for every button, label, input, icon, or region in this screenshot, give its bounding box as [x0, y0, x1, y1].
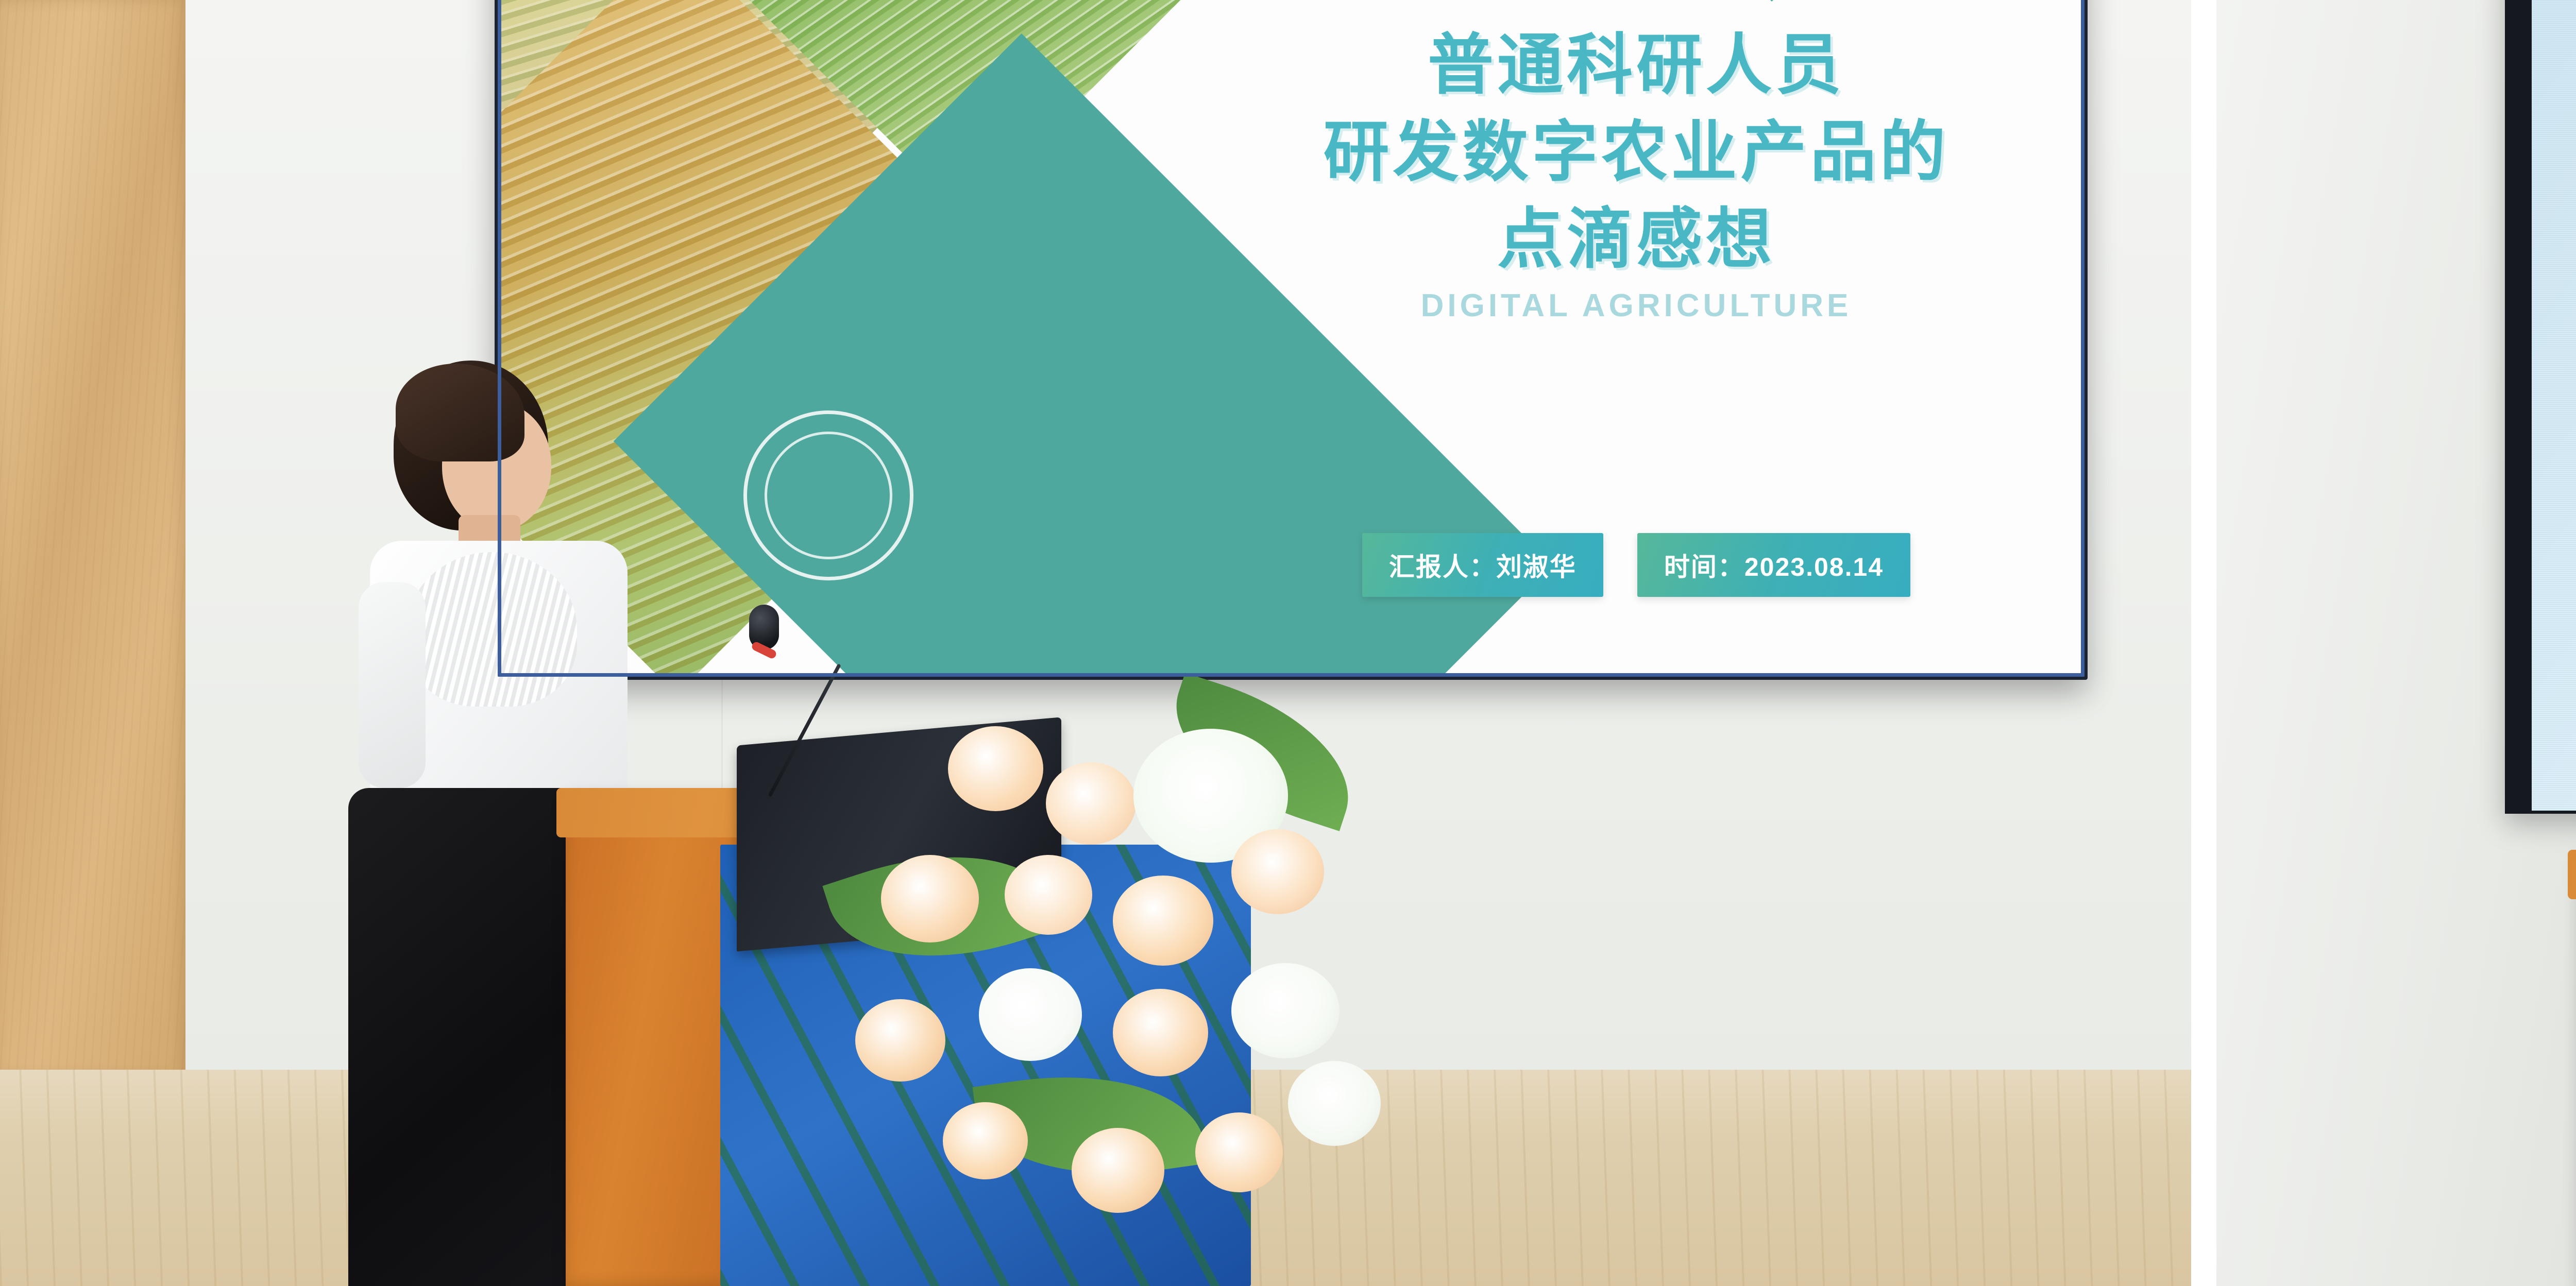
rose: [1113, 876, 1213, 966]
rose: [1113, 989, 1208, 1076]
white-bloom: [1288, 1061, 1381, 1146]
rose: [948, 726, 1043, 811]
rose: [881, 855, 979, 942]
right-display-screen-frame: 保护价合约 社会化服务 质量标准 盈余分红 技术培训 工作岗位: [2505, 0, 2576, 814]
rose: [1005, 855, 1092, 935]
title-slide: 普通科研人员 研发数字农业产品的 点滴感想 DIGITAL AGRICULTUR…: [501, 0, 2081, 673]
photo-divider-gap: [2191, 0, 2216, 1286]
left-display-screen-frame: 普通科研人员 研发数字农业产品的 点滴感想 DIGITAL AGRICULTUR…: [495, 0, 2088, 680]
institution-seal-watermark: [743, 410, 913, 580]
white-bloom: [979, 968, 1082, 1061]
rose: [1231, 829, 1324, 914]
presenter-arm-left: [359, 582, 426, 788]
rose: [943, 1102, 1028, 1179]
cooperative-diagram-slide: 保护价合约 社会化服务 质量标准 盈余分红 技术培训 工作岗位: [2532, 0, 2576, 811]
rose: [1046, 762, 1136, 845]
wood-wall-panel: [0, 0, 185, 1076]
left-flower-bouquet: [824, 608, 1432, 1286]
slide-subtitle: DIGITAL AGRICULTURE: [1238, 287, 2035, 324]
rose: [855, 999, 945, 1082]
presenter-blouse-ruffle: [407, 552, 577, 707]
left-display-screen: 普通科研人员 研发数字农业产品的 点滴感想 DIGITAL AGRICULTUR…: [501, 0, 2081, 673]
white-bloom: [1231, 963, 1340, 1058]
rose: [1072, 1128, 1164, 1213]
slide-title: 普通科研人员 研发数字农业产品的 点滴感想: [1238, 22, 2035, 283]
rose: [1195, 1112, 1283, 1192]
slide-text-block: 普通科研人员 研发数字农业产品的 点滴感想 DIGITAL AGRICULTUR…: [1238, 0, 2081, 673]
presentation-photo-pair: 普通科研人员 研发数字农业产品的 点滴感想 DIGITAL AGRICULTUR…: [0, 0, 2576, 1286]
slide-title-line-3: 点滴感想: [1238, 196, 2035, 283]
slide-title-line-1: 普通科研人员: [1238, 22, 2035, 109]
right-presentation-photo: 保护价合约 社会化服务 质量标准 盈余分红 技术培训 工作岗位: [2216, 0, 2576, 1286]
podium-top-ledge: [2568, 850, 2576, 899]
slide-badge-row: 汇报人：刘淑华 时间：2023.08.14: [1238, 533, 2035, 597]
date-badge: 时间：2023.08.14: [1637, 533, 1910, 597]
slide-title-line-2: 研发数字农业产品的: [1238, 109, 2035, 196]
left-presentation-photo: 普通科研人员 研发数字农业产品的 点滴感想 DIGITAL AGRICULTUR…: [0, 0, 2191, 1286]
presenter-badge: 汇报人：刘淑华: [1362, 533, 1603, 597]
right-display-screen: 保护价合约 社会化服务 质量标准 盈余分红 技术培训 工作岗位: [2532, 0, 2576, 811]
